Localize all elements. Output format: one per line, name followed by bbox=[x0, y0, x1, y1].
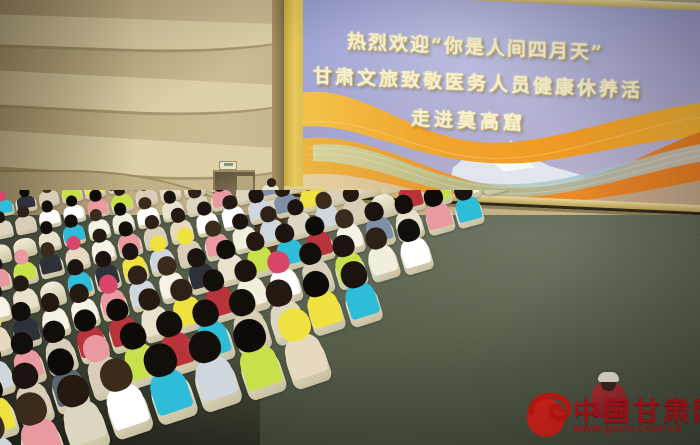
projection-screen bbox=[303, 0, 700, 221]
exit-sign bbox=[219, 161, 237, 170]
speaker-head bbox=[267, 178, 276, 187]
auditorium-event-photo: 热烈欢迎“你是人间四月天” 甘肃文旅致敬医务人员健康休养活 走进莫高窟 中国甘肃… bbox=[0, 0, 700, 445]
seated-audience bbox=[0, 190, 700, 445]
